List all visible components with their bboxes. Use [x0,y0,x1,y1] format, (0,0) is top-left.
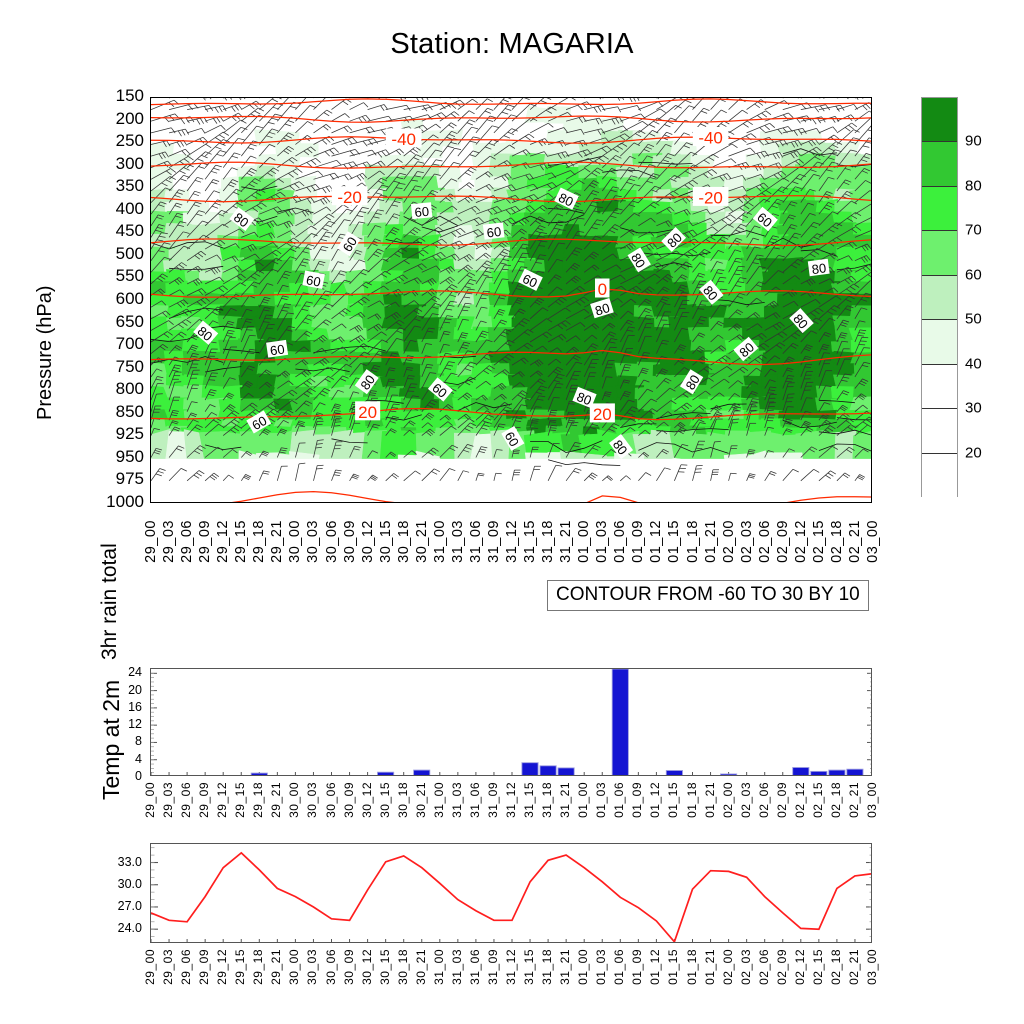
colorbar-label-90: 90 [965,133,982,150]
xtick-29_03: 29_03 [161,520,177,563]
xtick-31_18: 31_18 [540,949,554,985]
xtick-01_18: 01_18 [685,782,699,818]
xtick-29_06: 29_06 [179,949,193,985]
xtick-02_21: 02_21 [847,520,863,563]
xtick-01_12: 01_12 [648,520,664,563]
xtick-31_06: 31_06 [468,520,484,563]
temp-plot [151,844,872,943]
xtick-02_15: 02_15 [811,782,825,818]
xtick-31_09: 31_09 [486,520,502,563]
colorbar-label-40: 40 [965,355,982,372]
xtick-01_15: 01_15 [666,782,680,818]
xtick-31_18: 31_18 [540,520,556,563]
colorbar-band-6 [922,365,957,409]
xtick-31_21: 31_21 [558,782,572,818]
xtick-02_06: 02_06 [757,520,773,563]
xtick-31_15: 31_15 [522,782,536,818]
main-ytick-975: 975 [116,469,144,489]
main-ytick-750: 750 [116,357,144,377]
colorbar-label-30: 30 [965,400,982,417]
xtick-01_18: 01_18 [685,949,699,985]
xtick-02_21: 02_21 [847,949,861,985]
main-ytick-250: 250 [116,131,144,151]
colorbar-band-3 [922,231,957,275]
xtick-30_09: 30_09 [342,520,358,563]
xtick-02_12: 02_12 [793,520,809,563]
xtick-29_09: 29_09 [197,949,211,985]
xtick-31_18: 31_18 [540,782,554,818]
rain-ytick-24: 24 [110,665,142,679]
xtick-29_00: 29_00 [143,782,157,818]
main-ytick-350: 350 [116,176,144,196]
xtick-30_18: 30_18 [396,520,412,563]
main-ytick-400: 400 [116,199,144,219]
main-ytick-700: 700 [116,334,144,354]
xtick-30_09: 30_09 [342,949,356,985]
xtick-01_03: 01_03 [594,949,608,985]
xtick-03_00: 03_00 [865,782,879,818]
xtick-02_18: 02_18 [829,520,845,563]
xtick-29_18: 29_18 [251,949,265,985]
xtick-30_00: 30_00 [287,782,301,818]
colorbar-band-8 [922,454,957,498]
xtick-02_12: 02_12 [793,782,807,818]
xtick-02_03: 02_03 [739,520,755,563]
xtick-01_06: 01_06 [612,782,626,818]
xtick-01_12: 01_12 [648,949,662,985]
main-ytick-550: 550 [116,266,144,286]
xtick-30_03: 30_03 [305,949,319,985]
xtick-01_12: 01_12 [648,782,662,818]
page-title: Station: MAGARIA [0,28,1024,61]
xtick-01_21: 01_21 [703,782,717,818]
colorbar [921,97,958,497]
xtick-29_21: 29_21 [269,949,283,985]
xtick-02_00: 02_00 [721,949,735,985]
xtick-29_03: 29_03 [161,949,175,985]
xtick-29_15: 29_15 [233,949,247,985]
temp-line-panel [150,843,872,943]
xtick-30_12: 30_12 [360,782,374,818]
xtick-02_18: 02_18 [829,949,843,985]
colorbar-label-50: 50 [965,311,982,328]
xtick-02_15: 02_15 [811,949,825,985]
xtick-31_09: 31_09 [486,949,500,985]
colorbar-band-1 [922,142,957,186]
xtick-01_03: 01_03 [594,782,608,818]
xtick-31_21: 31_21 [558,949,572,985]
xtick-29_12: 29_12 [215,520,231,563]
temp-yaxis-title: Temp at 2m [98,680,125,800]
main-ytick-600: 600 [116,289,144,309]
xtick-30_03: 30_03 [305,782,319,818]
main-ytick-950: 950 [116,447,144,467]
colorbar-band-4 [922,276,957,320]
xtick-01_03: 01_03 [594,520,610,563]
xtick-30_12: 30_12 [360,949,374,985]
xtick-01_09: 01_09 [630,520,646,563]
main-ytick-500: 500 [116,244,144,264]
rain-yaxis-title: 3hr rain total [98,543,122,660]
sounding-heatmap-panel: -40-40-20-200202080606060608080808080608… [150,97,872,503]
colorbar-band-5 [922,320,957,364]
xtick-31_21: 31_21 [558,520,574,563]
colorbar-labels: 9080706050403020 [965,97,1021,497]
xtick-29_21: 29_21 [269,520,285,563]
temp-ytick-27: 27.0 [102,899,142,913]
xtick-29_12: 29_12 [215,782,229,818]
xtick-01_21: 01_21 [703,949,717,985]
xtick-29_06: 29_06 [179,520,195,563]
xtick-29_18: 29_18 [251,782,265,818]
temp-ytick-24: 24.0 [102,921,142,935]
main-ytick-150: 150 [116,86,144,106]
xtick-30_06: 30_06 [324,520,340,563]
xtick-30_15: 30_15 [378,949,392,985]
main-yaxis-title: Pressure (hPa) [34,286,57,421]
colorbar-label-70: 70 [965,222,982,239]
colorbar-band-0 [922,98,957,142]
xtick-01_09: 01_09 [630,949,644,985]
temp-ytick-30: 30.0 [102,877,142,891]
contour-note: CONTOUR FROM -60 TO 30 BY 10 [547,580,869,611]
xtick-01_21: 01_21 [703,520,719,563]
xtick-02_03: 02_03 [739,782,753,818]
temp-line [151,853,872,942]
xtick-29_21: 29_21 [269,782,283,818]
main-ytick-1000: 1000 [106,492,144,512]
xtick-29_00: 29_00 [143,949,157,985]
xtick-30_00: 30_00 [287,949,301,985]
colorbar-band-2 [922,187,957,231]
xtick-30_21: 30_21 [414,949,428,985]
xtick-02_03: 02_03 [739,949,753,985]
xtick-30_06: 30_06 [324,949,338,985]
xtick-01_00: 01_00 [576,949,590,985]
xtick-01_09: 01_09 [630,782,644,818]
temp-ytick-33: 33.0 [102,855,142,869]
xtick-01_06: 01_06 [612,949,626,985]
xtick-31_06: 31_06 [468,782,482,818]
sounding-plot: -40-40-20-200202080606060608080808080608… [151,98,872,503]
xtick-02_18: 02_18 [829,782,843,818]
colorbar-band-7 [922,409,957,453]
colorbar-label-80: 80 [965,177,982,194]
xtick-30_18: 30_18 [396,782,410,818]
xtick-29_09: 29_09 [197,782,211,818]
xtick-31_09: 31_09 [486,782,500,818]
xtick-30_00: 30_00 [287,520,303,563]
xtick-29_18: 29_18 [251,520,267,563]
xtick-30_03: 30_03 [305,520,321,563]
xtick-30_06: 30_06 [324,782,338,818]
xtick-30_15: 30_15 [378,782,392,818]
xtick-30_15: 30_15 [378,520,394,563]
xtick-02_00: 02_00 [721,520,737,563]
xtick-02_21: 02_21 [847,782,861,818]
xtick-31_03: 31_03 [450,949,464,985]
rain-bars [251,669,872,776]
xtick-29_09: 29_09 [197,520,213,563]
xtick-30_18: 30_18 [396,949,410,985]
main-ytick-925: 925 [116,424,144,444]
xtick-30_12: 30_12 [360,520,376,563]
xtick-30_21: 30_21 [414,782,428,818]
main-yaxis-ticklabels: 1502002503003504004505005506006507007508… [74,96,150,504]
rain-bar-panel [150,668,872,776]
rain-plot [151,669,872,776]
xtick-29_00: 29_00 [143,520,159,563]
main-ytick-300: 300 [116,154,144,174]
xtick-02_00: 02_00 [721,782,735,818]
xtick-02_06: 02_06 [757,949,771,985]
xtick-31_12: 31_12 [504,520,520,563]
xtick-02_09: 02_09 [775,520,791,563]
xtick-02_06: 02_06 [757,782,771,818]
xtick-03_00: 03_00 [865,520,881,563]
xtick-31_00: 31_00 [432,949,446,985]
xtick-31_00: 31_00 [432,782,446,818]
xtick-01_15: 01_15 [666,520,682,563]
xtick-29_12: 29_12 [215,949,229,985]
xtick-29_03: 29_03 [161,782,175,818]
xtick-31_12: 31_12 [504,949,518,985]
xtick-30_09: 30_09 [342,782,356,818]
xtick-31_12: 31_12 [504,782,518,818]
main-ytick-650: 650 [116,312,144,332]
xtick-02_09: 02_09 [775,949,789,985]
xtick-31_00: 31_00 [432,520,448,563]
main-ytick-200: 200 [116,109,144,129]
xtick-29_15: 29_15 [233,520,249,563]
xtick-31_06: 31_06 [468,949,482,985]
xtick-31_03: 31_03 [450,520,466,563]
xtick-02_09: 02_09 [775,782,789,818]
xtick-31_15: 31_15 [522,520,538,563]
xtick-29_06: 29_06 [179,782,193,818]
main-ytick-850: 850 [116,402,144,422]
xtick-02_12: 02_12 [793,949,807,985]
colorbar-label-20: 20 [965,444,982,461]
xtick-02_15: 02_15 [811,520,827,563]
xtick-01_15: 01_15 [666,949,680,985]
xtick-03_00: 03_00 [865,949,879,985]
xtick-01_00: 01_00 [576,520,592,563]
xtick-31_15: 31_15 [522,949,536,985]
colorbar-label-60: 60 [965,266,982,283]
xtick-31_03: 31_03 [450,782,464,818]
xtick-01_18: 01_18 [685,520,701,563]
main-ytick-450: 450 [116,221,144,241]
xtick-30_21: 30_21 [414,520,430,563]
main-ytick-800: 800 [116,379,144,399]
xtick-29_15: 29_15 [233,782,247,818]
xtick-01_06: 01_06 [612,520,628,563]
xtick-01_00: 01_00 [576,782,590,818]
